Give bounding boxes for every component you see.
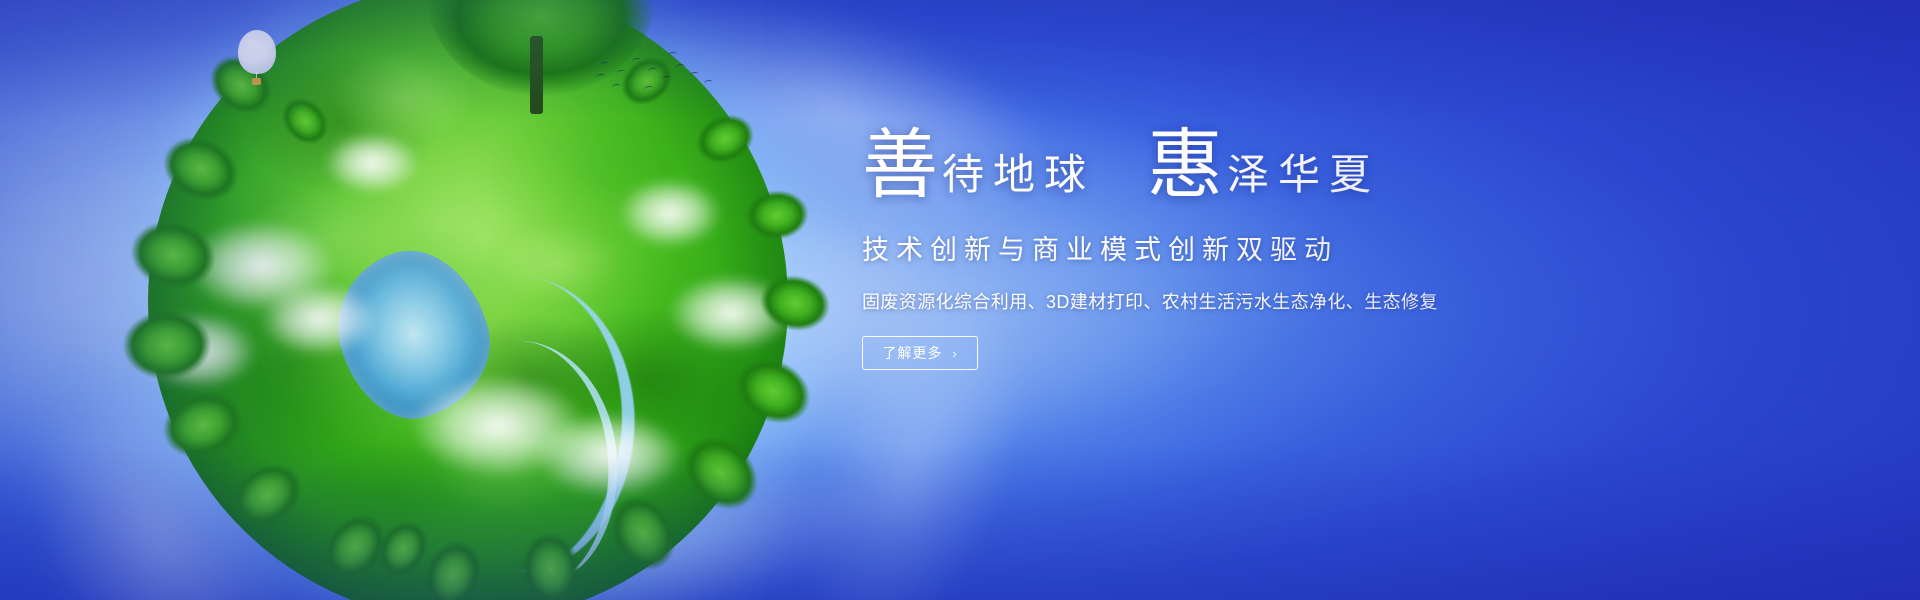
- banner-vignette: [0, 0, 1920, 600]
- hero-banner: 善 待地球 惠 泽华夏 技术创新与商业模式创新双驱动 固废资源化综合利用、3D建…: [0, 0, 1920, 600]
